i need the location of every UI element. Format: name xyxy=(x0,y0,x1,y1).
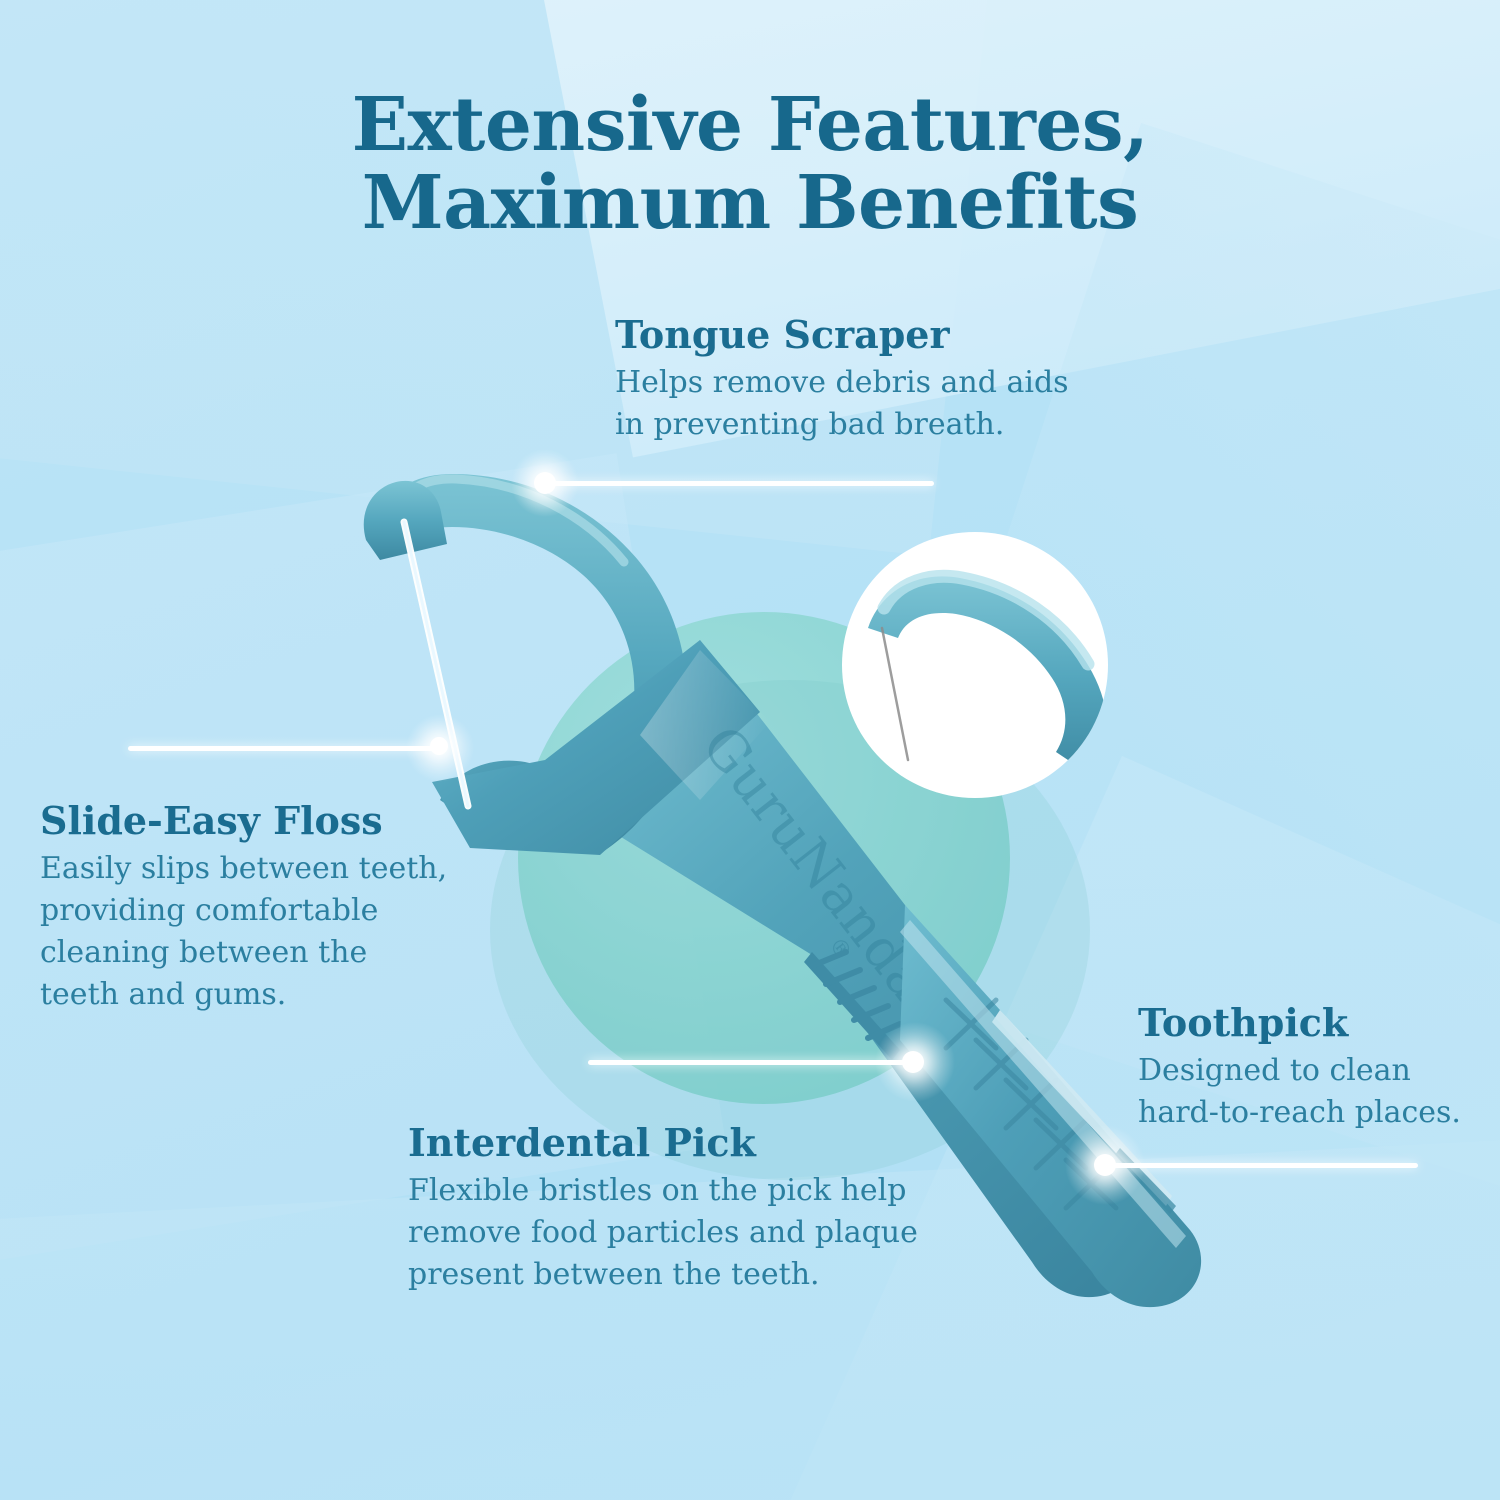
callout-body-tongue-scraper-line-1: Helps remove debris and aids xyxy=(615,362,1069,404)
callout-body-interdental-pick-line-3: present between the teeth. xyxy=(408,1254,918,1296)
scraper-tip xyxy=(364,481,447,560)
callout-body-interdental-pick-line-1: Flexible bristles on the pick help xyxy=(408,1170,918,1212)
connector-line-slide-easy-floss xyxy=(128,746,446,751)
callout-body-slide-easy-floss-line-4: teeth and gums. xyxy=(40,974,447,1016)
connector-dot-tongue-scraper xyxy=(534,472,556,494)
floss-strand xyxy=(404,522,468,806)
callout-body-slide-easy-floss-line-1: Easily slips between teeth, xyxy=(40,848,447,890)
floss-strand-core xyxy=(404,522,468,806)
callout-heading-tongue-scraper: Tongue Scraper xyxy=(615,312,1069,358)
connector-dot-slide-easy-floss xyxy=(430,737,448,755)
callout-body-interdental-pick-line-2: remove food particles and plaque xyxy=(408,1212,918,1254)
callout-body-slide-easy-floss-line-3: cleaning between the xyxy=(40,932,447,974)
page-title: Extensive Features, Maximum Benefits xyxy=(0,86,1500,242)
callout-heading-toothpick: Toothpick xyxy=(1138,1000,1461,1046)
connector-dot-toothpick xyxy=(1094,1154,1116,1176)
callout-heading-slide-easy-floss: Slide-Easy Floss xyxy=(40,798,447,844)
accent-circle xyxy=(518,612,1010,1104)
connector-line-tongue-scraper xyxy=(552,481,934,486)
connector-line-toothpick xyxy=(1110,1163,1418,1168)
connector-line-interdental-pick xyxy=(588,1060,918,1065)
grip-texture xyxy=(946,1000,1116,1208)
callout-heading-interdental-pick: Interdental Pick xyxy=(408,1120,918,1166)
callout-tongue-scraper: Tongue Scraper Helps remove debris and a… xyxy=(615,312,1069,446)
callout-interdental-pick: Interdental Pick Flexible bristles on th… xyxy=(408,1120,918,1296)
callout-slide-easy-floss: Slide-Easy Floss Easily slips between te… xyxy=(40,798,447,1016)
callout-body-toothpick-line-2: hard-to-reach places. xyxy=(1138,1092,1461,1134)
callout-body-slide-easy-floss-line-2: providing comfortable xyxy=(40,890,447,932)
callout-toothpick: Toothpick Designed to clean hard-to-reac… xyxy=(1138,1000,1461,1134)
callout-body-toothpick-line-1: Designed to clean xyxy=(1138,1050,1461,1092)
connector-dot-interdental-pick xyxy=(902,1051,924,1073)
infographic-canvas: Extensive Features, Maximum Benefits xyxy=(0,0,1500,1500)
title-line-1: Extensive Features, xyxy=(0,86,1500,164)
callout-body-tongue-scraper-line-2: in preventing bad breath. xyxy=(615,404,1069,446)
title-line-2: Maximum Benefits xyxy=(0,164,1500,242)
